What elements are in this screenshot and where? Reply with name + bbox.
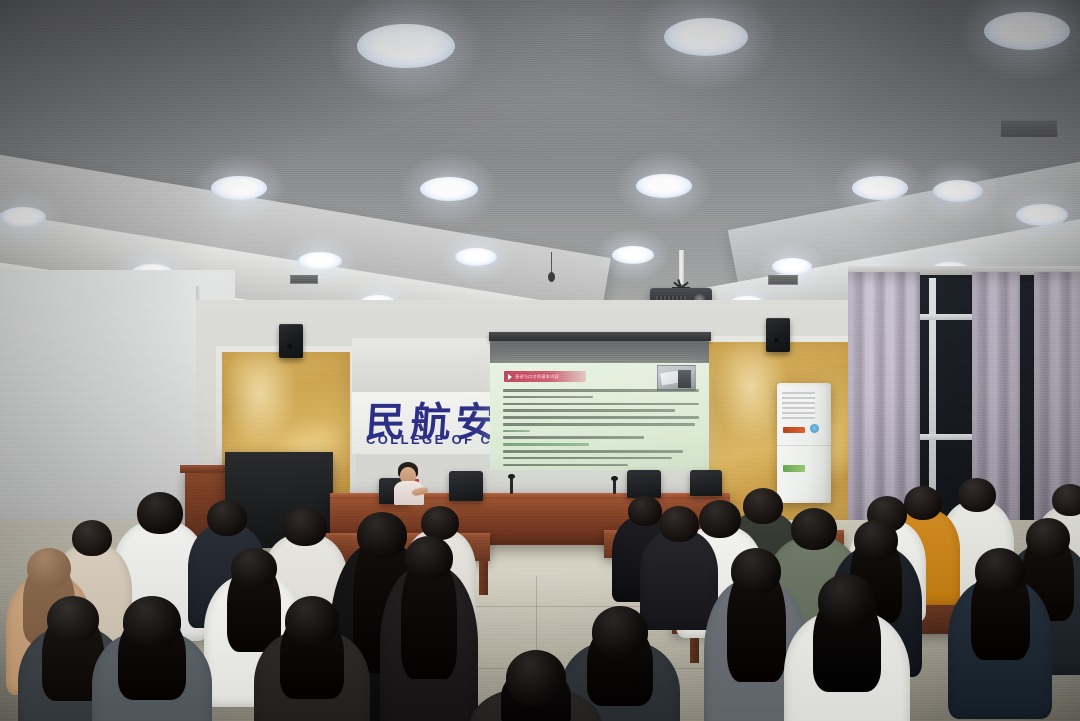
downlight-bulb-icon <box>357 24 455 68</box>
slide-bullet-line <box>503 403 699 406</box>
floor-air-conditioner <box>777 383 831 503</box>
hanging-microphone-icon <box>548 272 555 282</box>
presenter-at-head-table <box>388 462 432 506</box>
downlight-11 <box>455 248 497 266</box>
projection-screen-case <box>489 332 711 341</box>
speaker-driver-icon <box>287 344 292 349</box>
downlight-bulb-icon <box>455 248 497 266</box>
wall-speaker-right <box>766 318 790 352</box>
slide-title-banner: 演讲与口才的基本内容 <box>504 371 586 382</box>
ceiling-vent-far <box>1000 120 1058 138</box>
slide-bullet-line <box>503 409 675 412</box>
hanging-microphone-wire <box>551 252 552 274</box>
downlight-13 <box>772 258 812 275</box>
slide-bullet-line <box>503 430 530 433</box>
downlight-10 <box>298 252 342 270</box>
desk-leg <box>479 561 488 595</box>
audience-member-head <box>506 650 566 706</box>
downlight-7 <box>852 176 908 200</box>
audience-member <box>784 574 910 720</box>
downlight-6 <box>636 174 692 198</box>
table-microphone-stem <box>510 478 513 494</box>
downlight-3 <box>984 12 1070 50</box>
slide-bullet-line <box>503 423 695 426</box>
head-chair-3 <box>627 470 661 498</box>
projection-screen: 演讲与口才的基本内容 <box>489 332 711 480</box>
audience-member <box>254 596 370 721</box>
downlight-12 <box>612 246 654 264</box>
slide-bullet-line <box>503 436 644 439</box>
ac-body-seam <box>777 445 831 446</box>
slide-bullet-line <box>503 416 699 419</box>
audience-member <box>92 596 212 721</box>
projector-mount-pole <box>679 250 684 284</box>
downlight-5 <box>420 177 478 201</box>
speaker-driver-icon <box>774 338 779 343</box>
slide-photo-thumbnail <box>657 365 696 391</box>
ac-brand-logo <box>783 465 805 472</box>
slide-bullet-line <box>503 457 672 460</box>
slide-bullet-line <box>503 450 683 453</box>
thumbnail-object-shape <box>678 370 691 388</box>
audience-member <box>380 536 478 721</box>
downlight-bulb-icon <box>211 176 267 200</box>
audience-member-head <box>207 500 247 536</box>
table-microphone-head-icon <box>611 476 618 481</box>
ac-power-indicator-icon <box>810 424 819 433</box>
audience-member-head <box>123 596 181 648</box>
downlight-bulb-icon <box>852 176 908 200</box>
audience-member <box>948 548 1052 688</box>
downlight-2 <box>664 18 748 56</box>
table-microphone-head-icon <box>508 474 515 479</box>
audience-member-head <box>405 536 453 580</box>
chevron-right-icon <box>508 374 512 380</box>
ac-display-panel <box>783 427 805 433</box>
downlight-bulb-icon <box>636 174 692 198</box>
downlight-15 <box>0 207 46 227</box>
downlight-4 <box>211 176 267 200</box>
slide-bullet-line <box>503 443 589 446</box>
downlight-bulb-icon <box>0 207 46 227</box>
wall-speaker-left <box>279 324 303 358</box>
slide-bullet-line <box>503 464 628 467</box>
table-microphone-stem-2 <box>613 480 616 494</box>
downlight-bulb-icon <box>1016 204 1068 226</box>
audience-member-head <box>818 574 876 628</box>
audience-member-head <box>283 508 327 546</box>
downlight-bulb-icon <box>298 252 342 270</box>
head-chair-4 <box>690 470 722 496</box>
audience-member-head <box>285 596 339 646</box>
audience-member-head <box>854 520 898 560</box>
projected-slide: 演讲与口才的基本内容 <box>490 363 709 470</box>
head-chair-2 <box>449 471 483 501</box>
projection-screen-header-band <box>490 341 709 365</box>
college-sign-english: COLLEGE OF CIV <box>366 432 509 447</box>
downlight-8 <box>1016 204 1068 226</box>
slide-bullet-line <box>503 396 593 399</box>
ceiling-vent-left <box>290 275 318 284</box>
downlight-1 <box>357 24 455 68</box>
downlight-bulb-icon <box>420 177 478 201</box>
audience-member-head <box>659 506 699 542</box>
downlight-bulb-icon <box>933 180 983 202</box>
audience-member-head <box>27 548 71 588</box>
downlight-bulb-icon <box>664 18 748 56</box>
slide-bullet-line <box>503 389 699 392</box>
desk-leg <box>690 634 699 663</box>
ac-vent-grill <box>782 392 815 420</box>
audience-member-head <box>137 492 183 534</box>
downlight-bulb-icon <box>772 258 812 275</box>
audience-member-head <box>958 478 996 512</box>
audience-member-head <box>975 548 1025 594</box>
audience-member-head <box>1052 484 1080 516</box>
audience-member <box>470 650 602 721</box>
lecture-hall-photo: 民航安 COLLEGE OF CIV 演讲与口才的基本内容 <box>0 0 1080 721</box>
slide-bullet-lines <box>503 389 699 470</box>
ceiling-vent-right <box>768 275 798 285</box>
downlight-bulb-icon <box>984 12 1070 50</box>
audience-member-head <box>231 548 277 588</box>
thumbnail-document-shape <box>660 371 680 386</box>
downlight-20 <box>933 180 983 202</box>
audience-member-head <box>731 548 781 594</box>
slide-title-text: 演讲与口才的基本内容 <box>515 374 559 380</box>
downlight-bulb-icon <box>612 246 654 264</box>
